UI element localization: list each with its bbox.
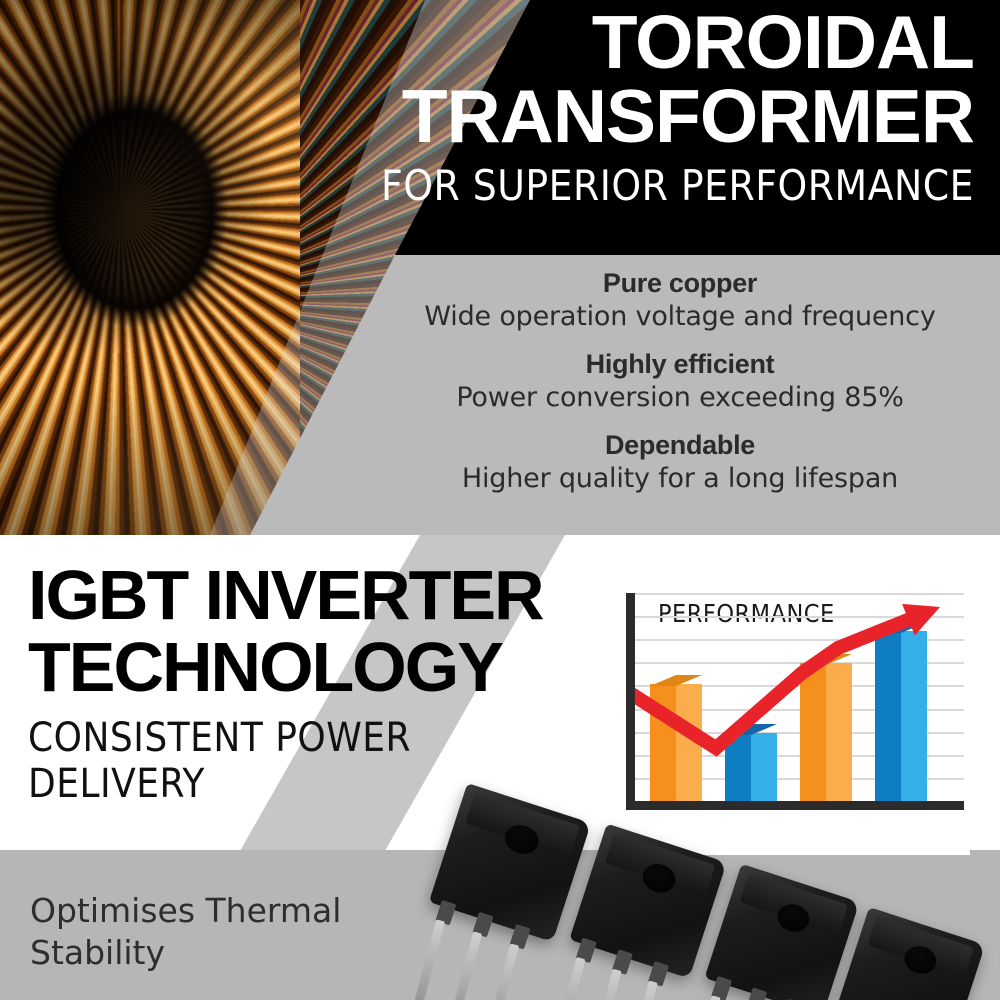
bottom-title-line1: IGBT INVERTER [28,560,543,630]
footer-text: Optimises Thermal Stability [30,890,410,974]
bottom-title-line2: TECHNOLOGY [28,632,502,702]
performance-chart: PERFORMANCE [620,585,970,855]
top-section: TOROIDAL TRANSFORMER FOR SUPERIOR PERFOR… [0,0,1000,535]
top-subtitle: FOR SUPERIOR PERFORMANCE [294,161,974,210]
top-title-line2: TRANSFORMER [294,80,974,154]
feature-description: Wide operation voltage and frequency [380,301,980,332]
chart-y-axis [626,593,635,808]
top-title-block: TOROIDAL TRANSFORMER FOR SUPERIOR PERFOR… [294,6,974,210]
footer-text-line2: Stability [30,932,410,974]
feature-description: Higher quality for a long lifespan [380,463,980,494]
bottom-section: IGBT INVERTER TECHNOLOGY CONSISTENT POWE… [0,535,1000,1000]
infographic-page: TOROIDAL TRANSFORMER FOR SUPERIOR PERFOR… [0,0,1000,1000]
feature-item: Highly efficient Power conversion exceed… [380,349,980,413]
bottom-subtitle-line2: DELIVERY [28,763,205,805]
feature-item: Pure copper Wide operation voltage and f… [380,268,980,332]
chart-x-axis [626,801,964,810]
feature-heading: Highly efficient [380,349,980,380]
feature-description: Power conversion exceeding 85% [380,382,980,413]
top-title-line1: TOROIDAL [294,6,974,80]
feature-item: Dependable Higher quality for a long lif… [380,430,980,494]
bottom-subtitle-line1: CONSISTENT POWER [28,717,411,759]
chart-plot-area: PERFORMANCE [620,585,970,855]
footer-text-line1: Optimises Thermal [30,890,410,932]
feature-heading: Dependable [380,430,980,461]
trend-polyline [630,614,921,748]
chart-trend-arrow [620,585,970,855]
feature-heading: Pure copper [380,268,980,299]
feature-list: Pure copper Wide operation voltage and f… [380,268,980,511]
